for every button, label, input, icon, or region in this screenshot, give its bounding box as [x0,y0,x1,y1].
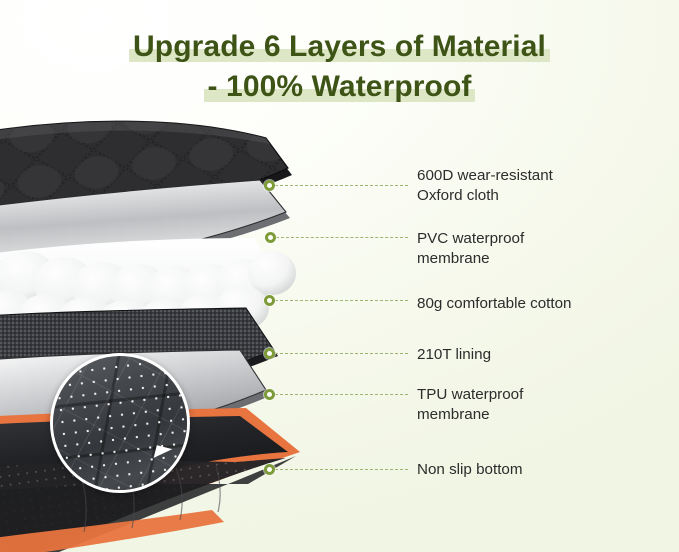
infographic-canvas: Upgrade 6 Layers of Material - 100% Wate… [0,0,679,552]
label-600d-oxford-cloth: 600D wear-resistant Oxford cloth [417,166,553,206]
title-line-2-text: - 100% Waterproof [204,70,476,104]
label-tpu-membrane: TPU waterproof membrane [417,385,523,425]
leader-line-non-slip-bottom [275,469,408,470]
leader-line-pvc-membrane [276,237,408,238]
leader-line-tpu-membrane [275,394,408,395]
leader-line-210t-lining [275,353,408,354]
leader-line-80g-cotton [275,300,408,301]
title-line-2: - 100% Waterproof [0,70,679,104]
page-title: Upgrade 6 Layers of Material - 100% Wate… [0,30,679,104]
title-line-1: Upgrade 6 Layers of Material [0,30,679,64]
label-210t-lining: 210T lining [417,345,491,365]
marker-non-slip-bottom[interactable] [264,464,275,475]
non-slip-silicone-dots [50,353,190,493]
marker-80g-cotton[interactable] [264,295,275,306]
non-slip-texture-magnifier [50,353,190,493]
marker-tpu-membrane[interactable] [264,389,275,400]
marker-210t-lining[interactable] [264,348,275,359]
marker-600d-oxford-cloth[interactable] [264,180,275,191]
title-line-1-text: Upgrade 6 Layers of Material [129,30,550,64]
label-80g-cotton: 80g comfortable cotton [417,294,572,314]
leader-line-600d-oxford-cloth [275,185,408,186]
marker-pvc-membrane[interactable] [265,232,276,243]
label-non-slip-bottom: Non slip bottom [417,460,523,480]
label-pvc-membrane: PVC waterproof membrane [417,229,524,269]
